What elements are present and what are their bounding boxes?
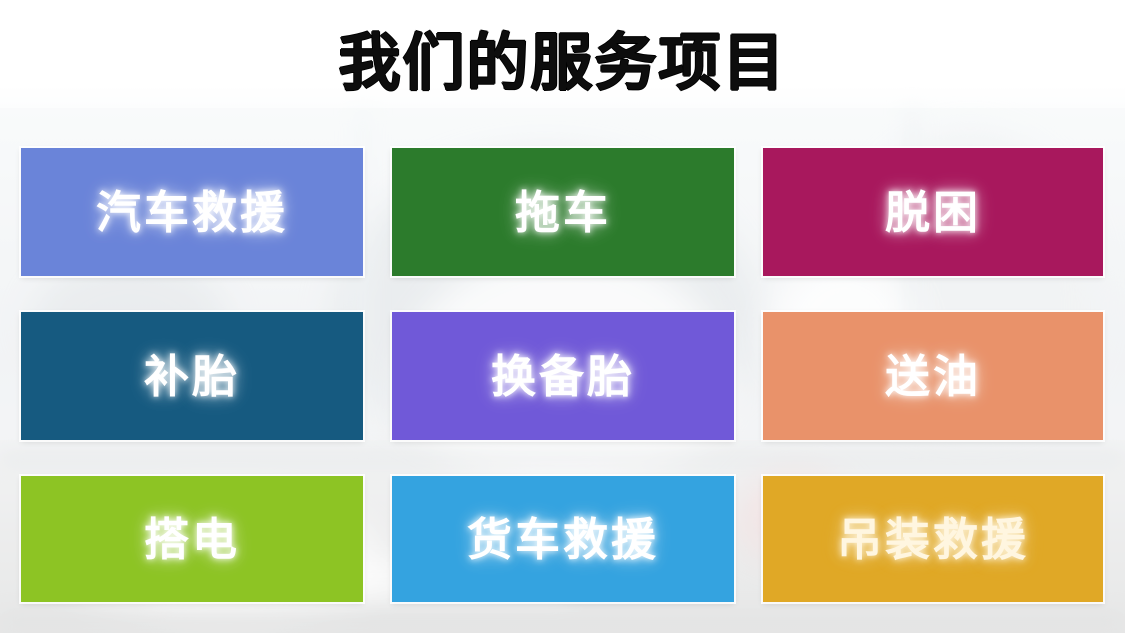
title-bar: 我们的服务项目 — [0, 0, 1125, 128]
service-tile-label: 货车救援 — [467, 517, 659, 562]
service-tile-towing[interactable]: 拖车 — [392, 148, 734, 276]
page-title: 我们的服务项目 — [338, 33, 786, 95]
service-tile-crane-lifting-rescue[interactable]: 吊装救援 — [763, 476, 1103, 602]
service-tile-label: 补胎 — [144, 354, 240, 399]
service-grid: 汽车救援 拖车 脱困 补胎 换备胎 送油 搭电 货车救援 吊装救援 — [21, 148, 1103, 602]
service-tile-label: 拖车 — [515, 190, 611, 235]
service-tile-label: 换备胎 — [491, 354, 635, 399]
service-tile-jump-start[interactable]: 搭电 — [21, 476, 363, 602]
service-tile-fuel-delivery[interactable]: 送油 — [763, 312, 1103, 440]
service-tile-truck-rescue[interactable]: 货车救援 — [392, 476, 734, 602]
service-tile-car-rescue[interactable]: 汽车救援 — [21, 148, 363, 276]
service-tile-extrication[interactable]: 脱困 — [763, 148, 1103, 276]
service-tile-label: 搭电 — [144, 517, 240, 562]
service-tile-label: 送油 — [885, 354, 981, 399]
service-tile-label: 吊装救援 — [837, 517, 1029, 562]
service-tile-spare-tire-change[interactable]: 换备胎 — [392, 312, 734, 440]
service-tile-label: 脱困 — [885, 190, 981, 235]
service-tile-tire-repair[interactable]: 补胎 — [21, 312, 363, 440]
service-tile-label: 汽车救援 — [96, 190, 288, 235]
service-poster: 我们的服务项目 汽车救援 拖车 脱困 补胎 换备胎 送油 搭电 货车救援 吊装救… — [0, 0, 1125, 633]
